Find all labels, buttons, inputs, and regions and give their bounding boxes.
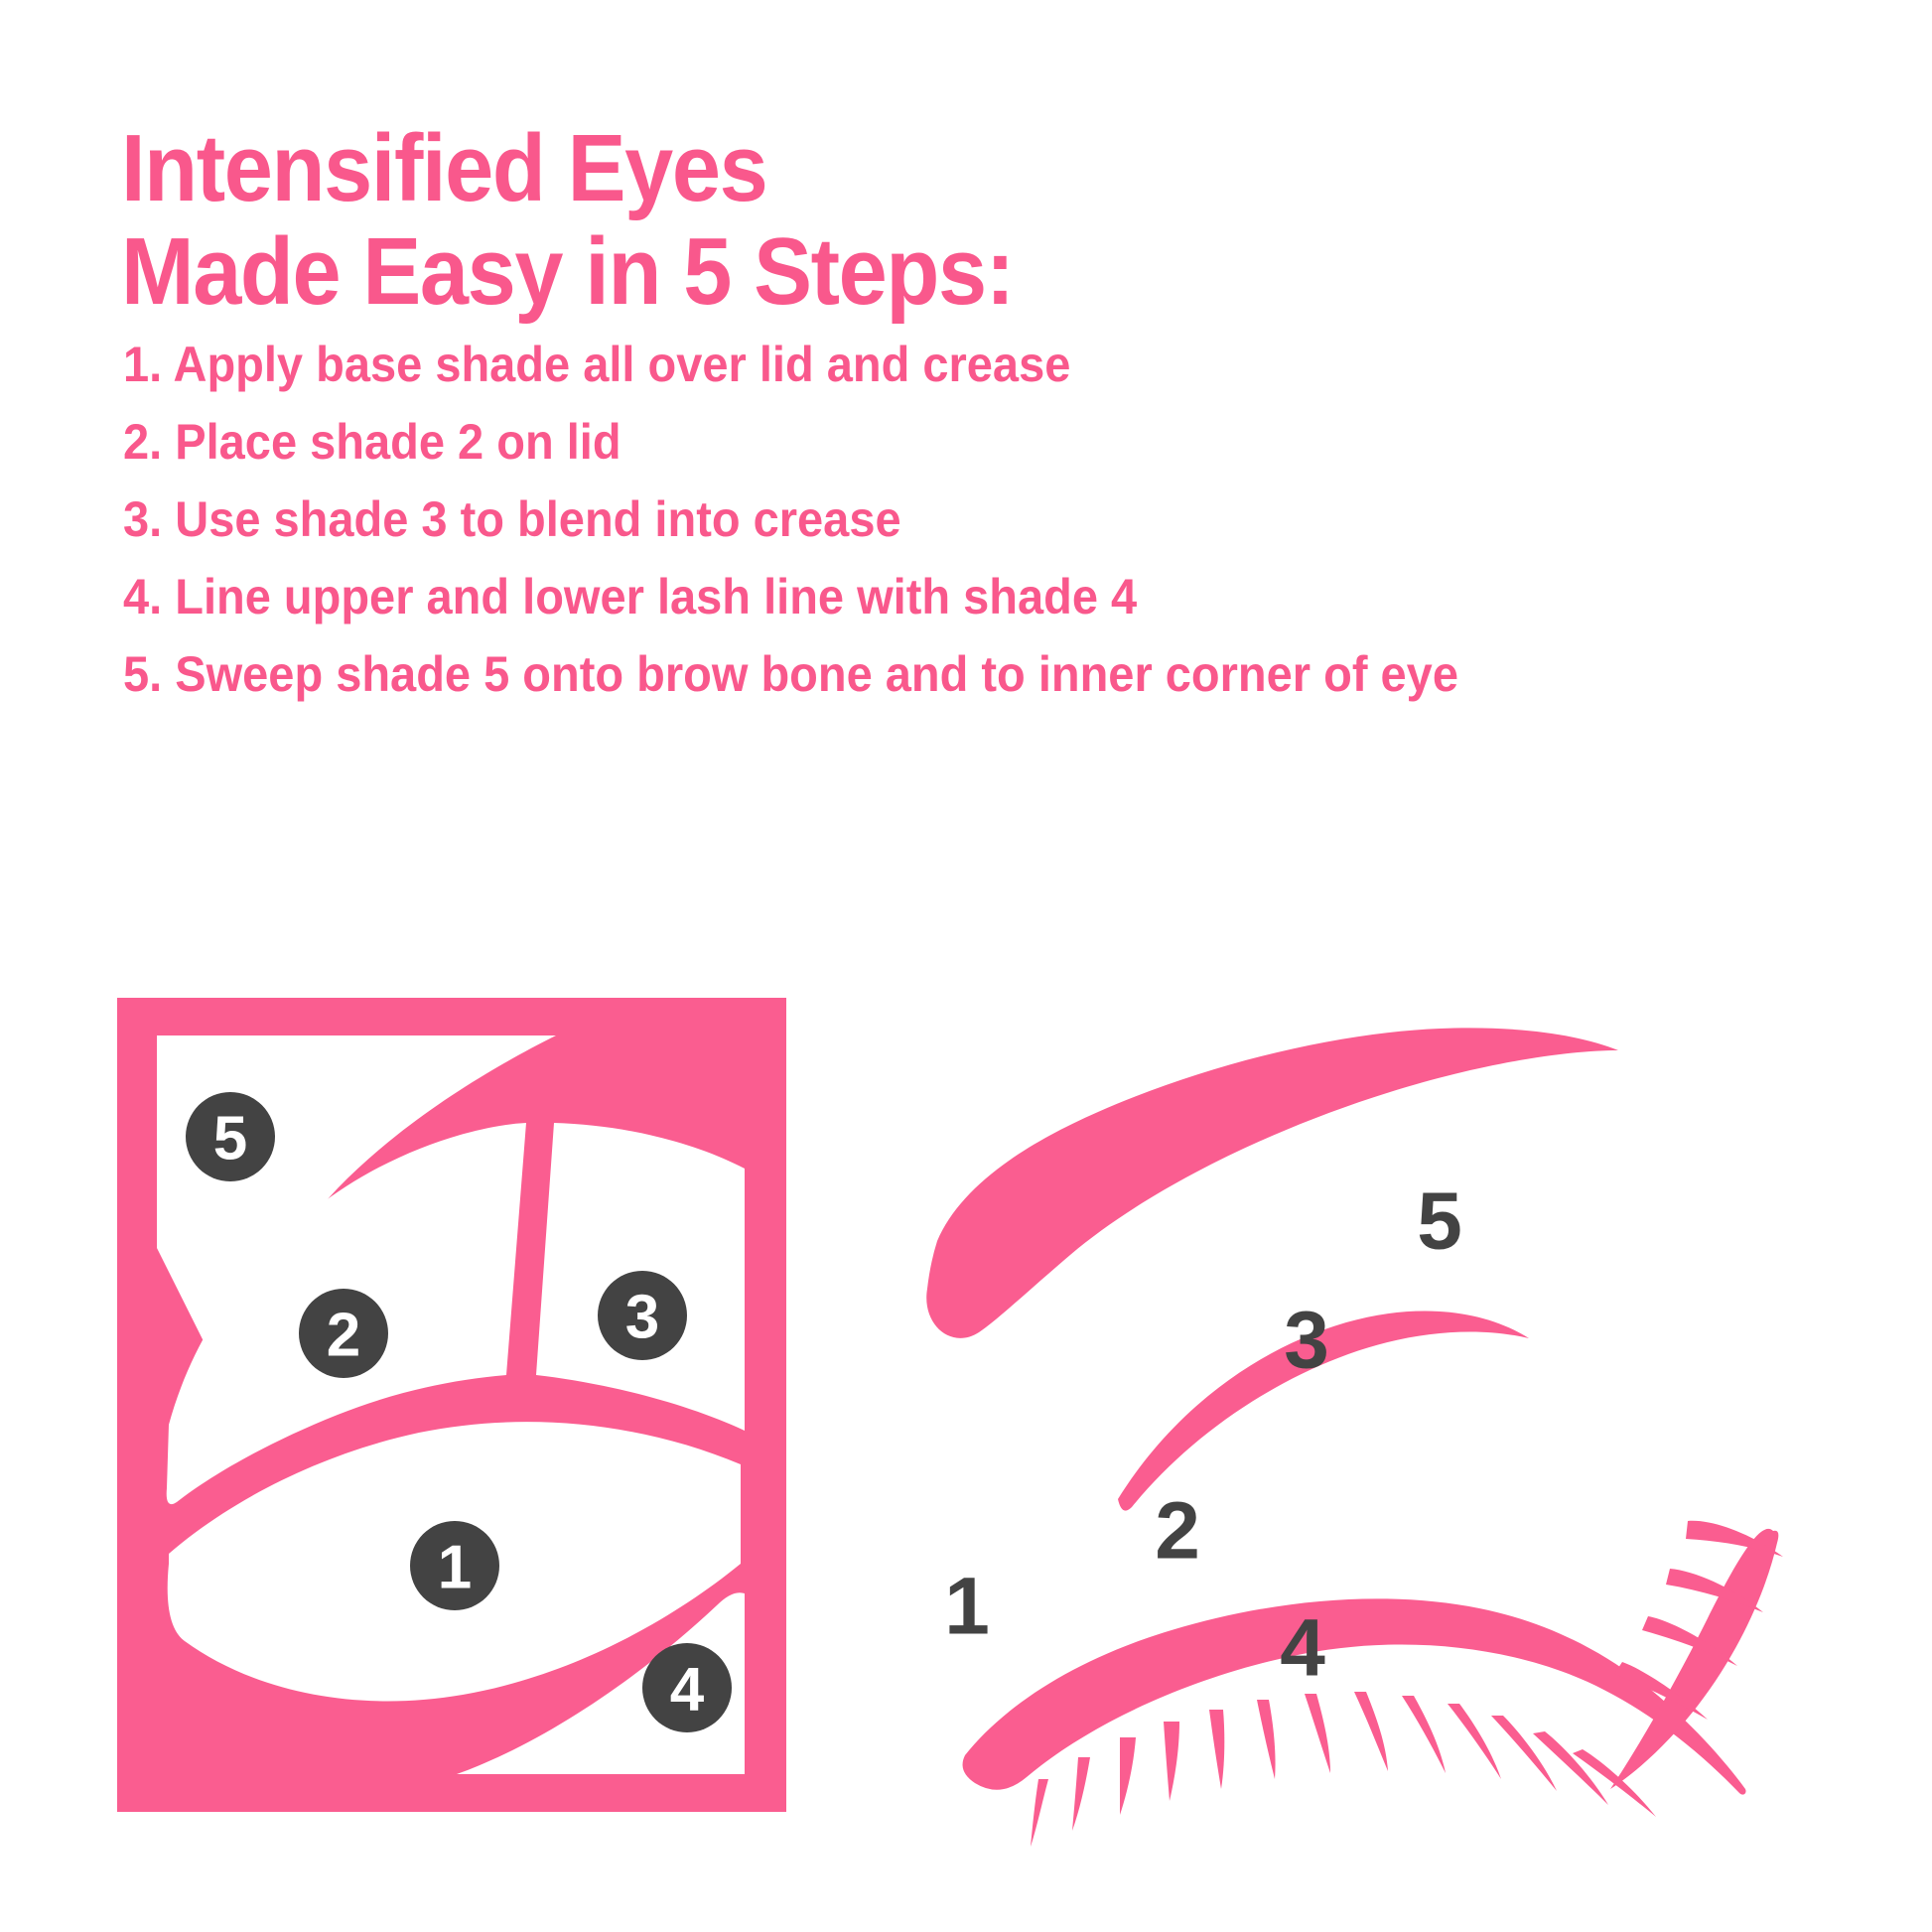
diagrams-row: 5 2 3 1 4 [0, 923, 1932, 1926]
palette-badge-1-label: 1 [438, 1534, 472, 1602]
palette-badge-2-label: 2 [327, 1302, 360, 1370]
eye-number-1: 1 [944, 1562, 990, 1652]
steps-list: 1. Apply base shade all over lid and cre… [123, 328, 1870, 715]
infographic-page: Intensified Eyes Made Easy in 5 Steps: 1… [0, 0, 1932, 1932]
eye-svg: 1 2 3 4 5 [923, 923, 1837, 1817]
eyebrow-shape [926, 1028, 1618, 1337]
palette-badge-3-label: 3 [625, 1284, 659, 1352]
page-title-line-2: Made Easy in 5 Steps: [121, 220, 1674, 324]
palette-badge-2[interactable]: 2 [299, 1289, 388, 1378]
step-item-1: 1. Apply base shade all over lid and cre… [123, 328, 1765, 405]
page-title: Intensified Eyes Made Easy in 5 Steps: [121, 117, 1809, 324]
palette-badge-3[interactable]: 3 [598, 1271, 687, 1360]
step-item-4: 4. Line upper and lower lash line with s… [123, 560, 1765, 637]
palette-badge-4[interactable]: 4 [642, 1643, 732, 1732]
step-item-3: 3. Use shade 3 to blend into crease [123, 483, 1765, 560]
palette-badge-1[interactable]: 1 [410, 1521, 499, 1610]
step-item-5: 5. Sweep shade 5 onto brow bone and to i… [123, 637, 1765, 715]
eye-number-2: 2 [1155, 1486, 1200, 1577]
palette-badge-5[interactable]: 5 [186, 1092, 275, 1181]
palette-badge-4-label: 4 [670, 1656, 705, 1725]
palette-svg: 5 2 3 1 4 [109, 958, 794, 1822]
eyeshadow-palette-diagram: 5 2 3 1 4 [109, 958, 794, 1822]
eye-application-diagram: 1 2 3 4 5 [923, 923, 1837, 1817]
palette-badge-5-label: 5 [213, 1105, 247, 1173]
eye-number-4: 4 [1280, 1603, 1325, 1694]
eye-number-5: 5 [1417, 1176, 1462, 1267]
page-title-line-1: Intensified Eyes [121, 117, 1674, 220]
eye-number-3: 3 [1284, 1296, 1329, 1386]
step-item-2: 2. Place shade 2 on lid [123, 405, 1765, 483]
